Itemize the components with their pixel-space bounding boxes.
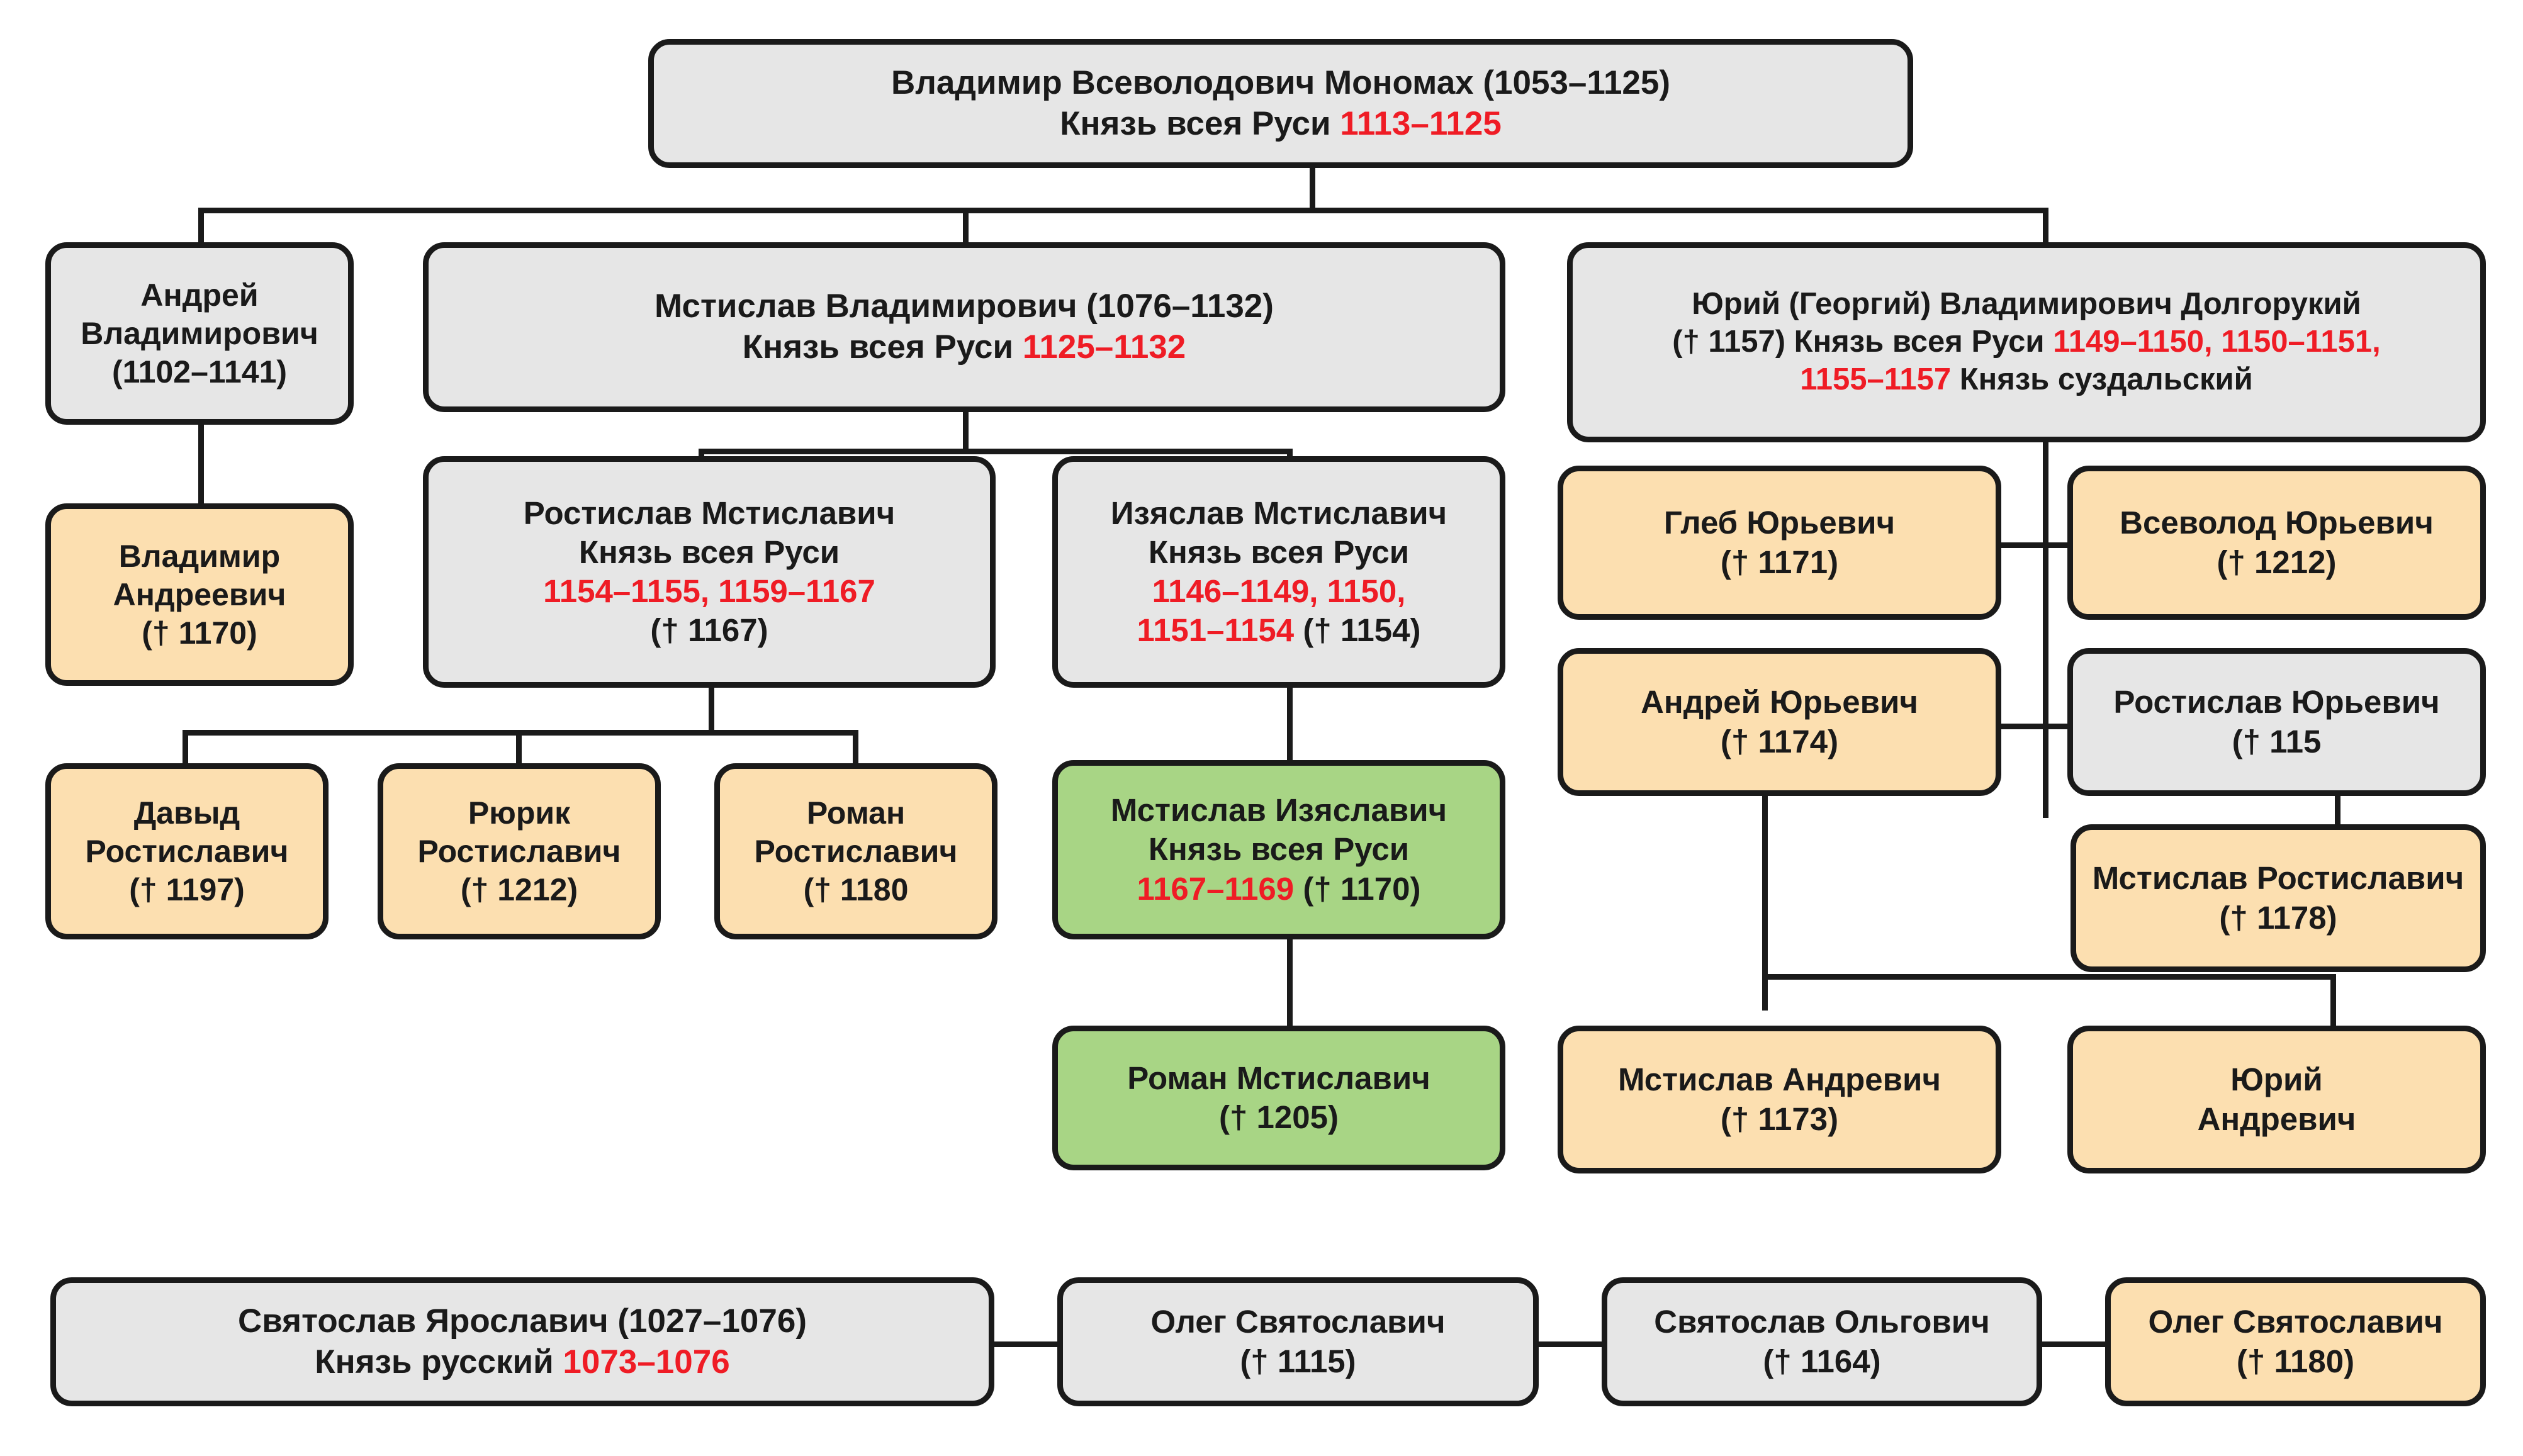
roman-rostislavich-line2: Ростиславич (755, 834, 958, 869)
rostislav-mstislavich-line1: Ростислав Мстиславич (524, 495, 896, 531)
node-svyatoslav-olgovich[interactable]: Святослав Ольгович († 1164) (1602, 1277, 2042, 1406)
node-ryurik-rostislavich[interactable]: Рюрик Ростиславич († 1212) (378, 763, 661, 939)
gleb-yurievich-line1: Глеб Юрьевич (1664, 505, 1895, 540)
davyd-rostislavich-line1: Давыд (134, 795, 240, 831)
connector-andrey-to-vladimir (198, 422, 204, 507)
ryurik-rostislavich-line3: († 1212) (461, 872, 578, 907)
andrey-vladimirovich-line3: (1102–1141) (112, 354, 287, 389)
svyatoslav-yaroslavich-line2-years: 1073–1076 (563, 1343, 729, 1380)
ryurik-rostislavich-line1: Рюрик (468, 795, 570, 831)
connector-bottom-link-3 (2039, 1341, 2108, 1347)
yuri-dolgoruky-line2-label: († 1157) Князь всея Руси (1672, 325, 2053, 359)
node-andrey-vladimirovich[interactable]: Андрей Владимирович (1102–1141) (45, 242, 354, 425)
mstislav-vladimirovich-line2-years: 1125–1132 (1023, 328, 1186, 366)
roman-rostislavich-line1: Роман (807, 795, 905, 831)
connector-mstislav-izyaslavich-to-roman (1287, 938, 1293, 1032)
gleb-yurievich-line2: († 1171) (1721, 544, 1838, 580)
node-gleb-yurievich[interactable]: Глеб Юрьевич († 1171) (1558, 466, 2001, 620)
rostislav-yurievich-line1: Ростислав Юрьевич (2113, 684, 2439, 720)
node-yuri-andrevich[interactable]: Юрий Андревич (2067, 1026, 2486, 1173)
connector-rostislav-stem (709, 687, 714, 734)
izyaslav-mstislavich-line3-years: 1146–1149, 1150, (1152, 573, 1406, 609)
node-svyatoslav-yaroslavich[interactable]: Святослав Ярославич (1027–1076) Князь ру… (50, 1277, 994, 1406)
node-oleg-svyatoslavich-1[interactable]: Олег Святославич († 1115) (1057, 1277, 1539, 1406)
vladimir-andreevich-line2: Андреевич (113, 577, 286, 612)
rostislav-yurievich-line2: († 115 (2232, 724, 2322, 759)
connector-drop-yuri-andrevich (2330, 974, 2336, 1029)
rostislav-mstislavich-line2: Князь всея Руси (579, 534, 840, 570)
connector-drop-mstislav-vladimirovich (963, 208, 969, 247)
connector-monomakh-stem (1310, 164, 1315, 210)
izyaslav-mstislavich-line1: Изяслав Мстиславич (1111, 495, 1447, 531)
node-monomakh[interactable]: Владимир Всеволодович Мономах (1053–1125… (648, 39, 1913, 168)
mstislav-izyaslavich-line2: Князь всея Руси (1149, 831, 1409, 867)
oleg-svyatoslavich-2-line1: Олег Святославич (2149, 1304, 2443, 1340)
node-mstislav-rostislavich[interactable]: Мстислав Ростиславич († 1178) (2071, 824, 2486, 972)
oleg-svyatoslavich-1-line2: († 1115) (1240, 1343, 1356, 1379)
davyd-rostislavich-line2: Ростиславич (86, 834, 289, 869)
vsevolod-yurievich-line2: († 1212) (2217, 544, 2337, 580)
vladimir-andreevich-line3: († 1170) (142, 615, 257, 651)
node-mstislav-andrevich[interactable]: Мстислав Андревич († 1173) (1558, 1026, 2001, 1173)
svyatoslav-yaroslavich-line1: Святослав Ярославич (1027–1076) (238, 1302, 807, 1340)
oleg-svyatoslavich-1-line1: Олег Святославич (1151, 1304, 1446, 1340)
yuri-dolgoruky-line3-label: Князь суздальский (1951, 362, 2253, 396)
svyatoslav-yaroslavich-line2-label: Князь русский (315, 1343, 563, 1380)
yuri-andrevich-line2: Андревич (2198, 1101, 2356, 1137)
connector-drop-yuri-dolgoruky (2043, 208, 2048, 247)
connector-bottom-link-2 (1536, 1341, 1605, 1347)
roman-rostislavich-line3: († 1180 (804, 872, 909, 907)
yuri-andrevich-line1: Юрий (2230, 1061, 2322, 1097)
node-mstislav-vladimirovich[interactable]: Мстислав Владимирович (1076–1132) Князь … (423, 242, 1505, 412)
svyatoslav-olgovich-line2: († 1164) (1763, 1343, 1880, 1379)
mstislav-vladimirovich-line2-label: Князь всея Руси (743, 328, 1023, 366)
node-vsevolod-yurievich[interactable]: Всеволод Юрьевич († 1212) (2067, 466, 2486, 620)
davyd-rostislavich-line3: († 1197) (129, 872, 244, 907)
roman-mstislavich-line2: († 1205) (1219, 1099, 1339, 1135)
node-yuri-dolgoruky[interactable]: Юрий (Георгий) Владимирович Долгорукий (… (1567, 242, 2486, 442)
monomakh-line2-years: 1113–1125 (1340, 105, 1502, 142)
connector-rostislav-yur-to-mstislav-rost (2335, 790, 2340, 828)
connector-bottom-link-1 (992, 1341, 1061, 1347)
mstislav-vladimirovich-line1: Мстислав Владимирович (1076–1132) (655, 288, 1274, 325)
rostislav-mstislavich-line4: († 1167) (650, 612, 768, 648)
node-roman-mstislavich[interactable]: Роман Мстиславич († 1205) (1052, 1026, 1505, 1170)
node-davyd-rostislavich[interactable]: Давыд Ростиславич († 1197) (45, 763, 329, 939)
node-vladimir-andreevich[interactable]: Владимир Андреевич († 1170) (45, 503, 354, 686)
node-izyaslav-mstislavich[interactable]: Изяслав Мстиславич Князь всея Руси 1146–… (1052, 456, 1505, 688)
connector-drop-roman-rostislavich (853, 730, 858, 768)
connector-drop-ryurik (516, 730, 522, 768)
rostislav-mstislavich-line3-years: 1154–1155, 1159–1167 (543, 573, 875, 609)
connector-yuri-trunk (2043, 440, 2048, 818)
yuri-dolgoruky-line3-years: 1155–1157 (1800, 362, 1951, 396)
andrey-vladimirovich-line2: Владимирович (81, 316, 318, 351)
mstislav-izyaslavich-line3-years: 1167–1169 (1137, 871, 1295, 907)
svyatoslav-olgovich-line1: Святослав Ольгович (1654, 1304, 1989, 1340)
andrey-yurievich-line2: († 1174) (1721, 724, 1838, 759)
mstislav-rostislavich-line2: († 1178) (2219, 900, 2337, 936)
mstislav-izyaslavich-line3-label: († 1170) (1294, 871, 1420, 907)
node-rostislav-yurievich[interactable]: Ростислав Юрьевич († 115 (2067, 648, 2486, 796)
mstislav-andrevich-line1: Мстислав Андревич (1618, 1061, 1941, 1097)
mstislav-izyaslavich-line1: Мстислав Изяславич (1111, 792, 1447, 828)
vladimir-andreevich-line1: Владимир (119, 539, 280, 574)
mstislav-andrevich-line2: († 1173) (1721, 1101, 1838, 1137)
node-roman-rostislavich[interactable]: Роман Ростиславич († 1180 (714, 763, 997, 939)
izyaslav-mstislavich-line2: Князь всея Руси (1149, 534, 1409, 570)
mstislav-rostislavich-line1: Мстислав Ростиславич (2093, 860, 2464, 896)
node-oleg-svyatoslavich-2[interactable]: Олег Святославич († 1180) (2105, 1277, 2486, 1406)
izyaslav-mstislavich-line4-years: 1151–1154 (1137, 612, 1295, 648)
connector-monomakh-bus (198, 208, 2048, 213)
connector-drop-davyd (183, 730, 188, 768)
ryurik-rostislavich-line2: Ростиславич (418, 834, 621, 869)
roman-mstislavich-line1: Роман Мстиславич (1127, 1060, 1430, 1096)
izyaslav-mstislavich-line4-label: († 1154) (1294, 612, 1420, 648)
node-mstislav-izyaslavich[interactable]: Мстислав Изяславич Князь всея Руси 1167–… (1052, 760, 1505, 939)
node-andrey-yurievich[interactable]: Андрей Юрьевич († 1174) (1558, 648, 2001, 796)
connector-mstislav-stem (963, 409, 969, 454)
oleg-svyatoslavich-2-line2: († 1180) (2237, 1343, 2354, 1379)
connector-andrey-yur-bus (1762, 974, 2336, 980)
andrey-vladimirovich-line1: Андрей (140, 277, 258, 313)
vsevolod-yurievich-line1: Всеволод Юрьевич (2120, 505, 2434, 540)
yuri-dolgoruky-line2-years: 1149–1150, 1150–1151, (2053, 325, 2381, 359)
monomakh-line2-label: Князь всея Руси (1060, 105, 1340, 142)
andrey-yurievich-line1: Андрей Юрьевич (1641, 684, 1918, 720)
connector-drop-andrey-vladimirovich (198, 208, 204, 247)
genealogy-diagram: Владимир Всеволодович Мономах (1053–1125… (0, 0, 2523, 1456)
yuri-dolgoruky-line1: Юрий (Георгий) Владимирович Долгорукий (1692, 287, 2361, 321)
connector-izyaslav-to-mstislav (1287, 687, 1293, 763)
connector-mstislav-bus (699, 449, 1293, 454)
monomakh-line1: Владимир Всеволодович Мономах (1053–1125… (891, 64, 1670, 101)
node-rostislav-mstislavich[interactable]: Ростислав Мстиславич Князь всея Руси 115… (423, 456, 996, 688)
